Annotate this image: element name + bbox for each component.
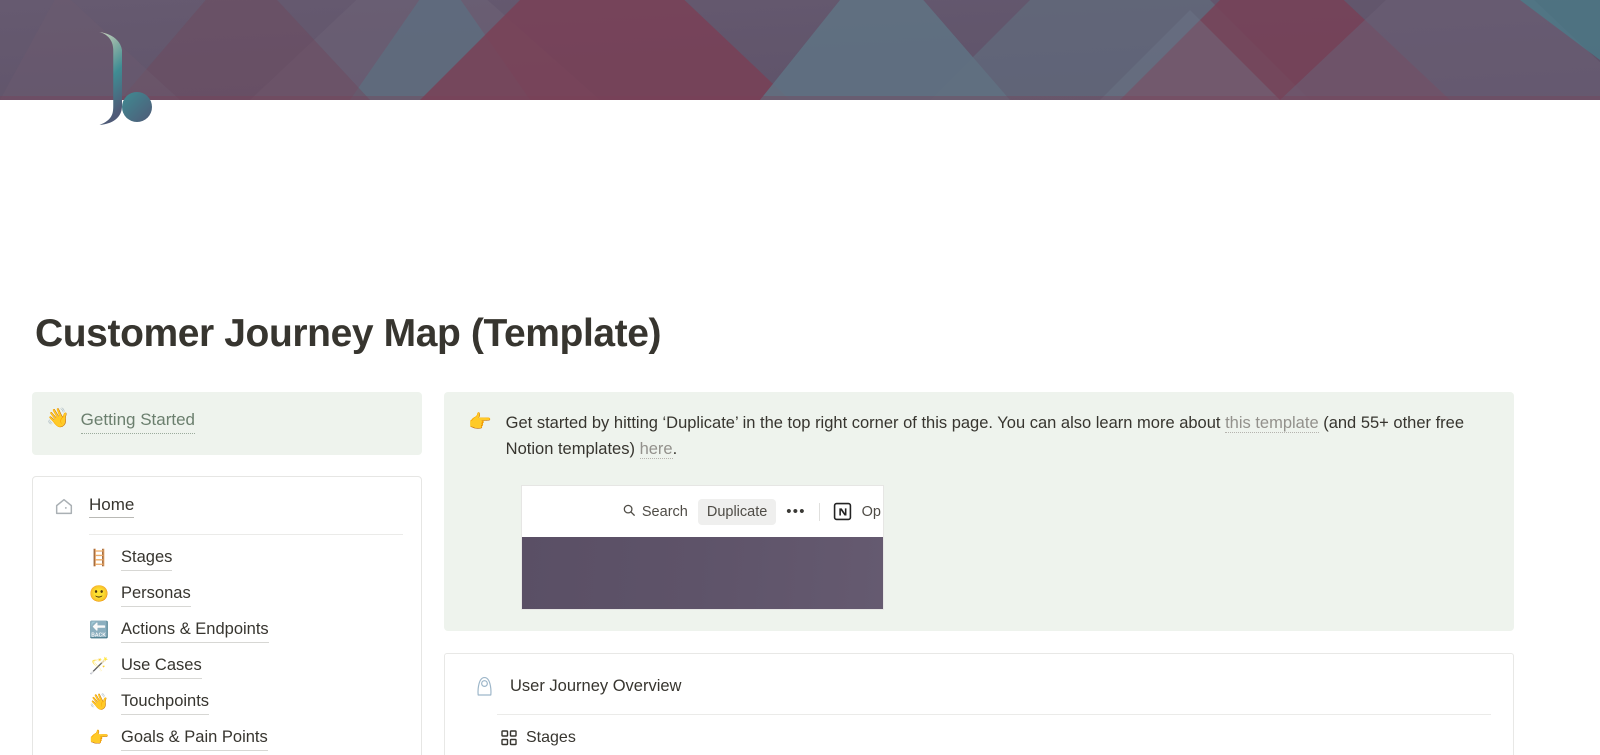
nav-divider xyxy=(89,534,403,535)
brand-logo xyxy=(86,28,166,133)
overview-header: User Journey Overview xyxy=(469,654,1491,697)
sidebar-item-label[interactable]: Use Cases xyxy=(121,655,202,679)
duplicate-hint-text: Get started by hitting ‘Duplicate’ in th… xyxy=(506,410,1492,462)
tab-stages[interactable]: Stages xyxy=(497,715,580,755)
overview-title: User Journey Overview xyxy=(510,677,681,696)
banner-artwork xyxy=(0,0,1600,100)
ladder-emoji: 🪜 xyxy=(89,549,110,569)
screenshot-search-button: Search xyxy=(622,503,688,521)
pointing-right-emoji: 👉 xyxy=(468,410,492,436)
screenshot-open-label: Op xyxy=(862,504,881,520)
sidebar-item-label[interactable]: Personas xyxy=(121,583,191,607)
home-icon xyxy=(53,496,75,518)
two-column-layout: 👋 Getting Started Home 🪜 xyxy=(0,392,1600,755)
tab-stages-label[interactable]: Stages xyxy=(526,729,576,747)
sidebar-item-touchpoints[interactable]: 👋 Touchpoints xyxy=(89,685,403,721)
sidebar-item-label[interactable]: Stages xyxy=(121,547,172,571)
screenshot-separator xyxy=(819,503,820,521)
pointing-right-emoji: 👉 xyxy=(89,729,110,749)
person-icon xyxy=(475,676,494,697)
overview-tabs: Stages xyxy=(497,715,1491,755)
sidebar-item-label[interactable]: Actions & Endpoints xyxy=(121,619,269,643)
right-column: 👉 Get started by hitting ‘Duplicate’ in … xyxy=(444,392,1514,755)
waving-hand-emoji: 👋 xyxy=(46,408,70,430)
gallery-grid-icon xyxy=(501,730,517,746)
screenshot-more-icon: ••• xyxy=(786,503,805,520)
getting-started-callout[interactable]: 👋 Getting Started xyxy=(32,392,422,455)
sidebar-item-home[interactable]: Home xyxy=(53,495,403,520)
getting-started-link[interactable]: Getting Started xyxy=(81,408,195,434)
search-icon xyxy=(622,503,636,521)
screenshot-search-label: Search xyxy=(642,504,688,520)
screenshot-cover-band xyxy=(522,537,883,609)
sidebar-item-goals-pain-points[interactable]: 👉 Goals & Pain Points xyxy=(89,721,403,755)
here-link[interactable]: here xyxy=(640,440,673,459)
sidebar-item-stages[interactable]: 🪜 Stages xyxy=(89,541,403,577)
hint-text-part-1: Get started by hitting ‘Duplicate’ in th… xyxy=(506,414,1225,432)
page-title: Customer Journey Map (Template) xyxy=(35,312,661,356)
magic-wand-emoji: 🪄 xyxy=(89,657,110,677)
duplicate-instructions-screenshot: Search Duplicate ••• Op xyxy=(522,486,883,609)
screenshot-duplicate-button: Duplicate xyxy=(698,499,776,525)
page-cover-banner xyxy=(0,0,1600,100)
sidebar-item-label[interactable]: Goals & Pain Points xyxy=(121,727,268,751)
brand-logo-mark xyxy=(86,28,166,133)
left-column: 👋 Getting Started Home 🪜 xyxy=(32,392,422,755)
user-journey-overview-card: User Journey Overview Sta xyxy=(444,653,1514,755)
back-arrow-emoji: 🔙 xyxy=(89,621,110,641)
duplicate-hint-callout: 👉 Get started by hitting ‘Duplicate’ in … xyxy=(444,392,1514,631)
this-template-link[interactable]: this template xyxy=(1225,414,1319,433)
waving-hand-emoji: 👋 xyxy=(89,693,110,713)
hint-text-part-3: . xyxy=(673,440,678,458)
sidebar-item-actions-endpoints[interactable]: 🔙 Actions & Endpoints xyxy=(89,613,403,649)
sidebar-item-use-cases[interactable]: 🪄 Use Cases xyxy=(89,649,403,685)
navigation-card: Home 🪜 Stages 🙂 Personas 🔙 Actions & End… xyxy=(32,476,422,755)
notion-logo-icon xyxy=(833,502,852,521)
sidebar-item-personas[interactable]: 🙂 Personas xyxy=(89,577,403,613)
slight-smile-emoji: 🙂 xyxy=(89,585,110,605)
screenshot-toolbar: Search Duplicate ••• Op xyxy=(522,486,883,537)
nav-list: 🪜 Stages 🙂 Personas 🔙 Actions & Endpoint… xyxy=(53,541,403,755)
sidebar-item-home-label[interactable]: Home xyxy=(89,495,134,518)
sidebar-item-label[interactable]: Touchpoints xyxy=(121,691,209,715)
